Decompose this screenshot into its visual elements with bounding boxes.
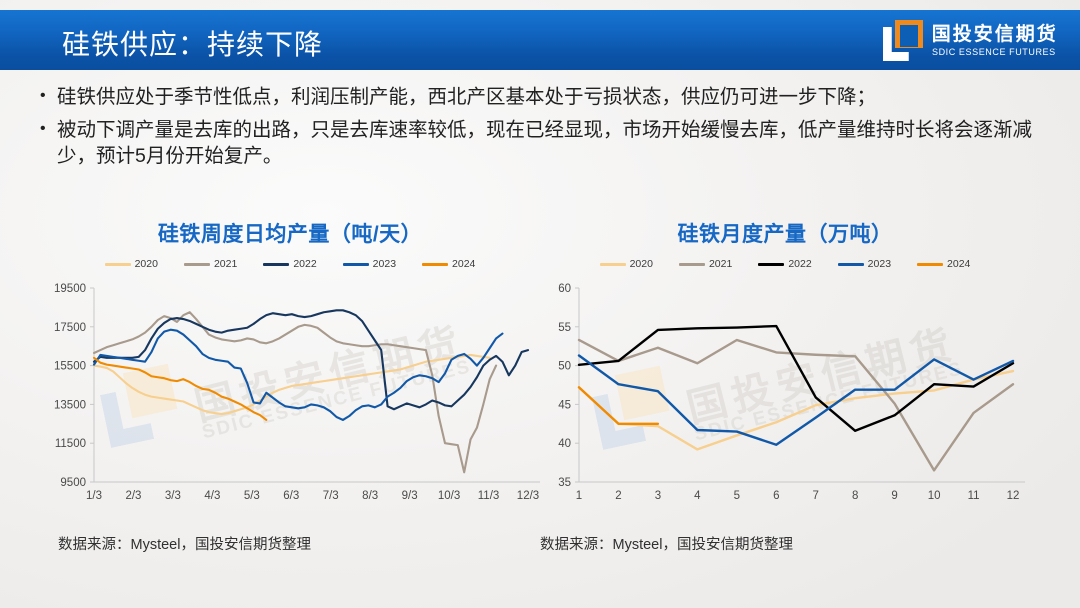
svg-text:19500: 19500: [54, 283, 86, 295]
legend-swatch: [838, 263, 864, 266]
svg-text:12: 12: [1007, 490, 1020, 502]
source-note: 数据来源：Mysteel，国投安信期货整理: [58, 533, 311, 554]
source-note: 数据来源：Mysteel，国投安信期货整理: [540, 533, 793, 554]
svg-text:2/3: 2/3: [125, 490, 141, 502]
legend-swatch: [679, 263, 705, 266]
svg-text:4: 4: [694, 490, 701, 502]
page-title: 硅铁供应：持续下降: [62, 23, 323, 63]
svg-text:4/3: 4/3: [204, 490, 220, 502]
legend-label: 2024: [452, 258, 475, 270]
svg-text:11500: 11500: [55, 438, 86, 450]
legend-item-2022: 2022: [263, 258, 316, 270]
legend-item-2022: 2022: [758, 258, 811, 270]
svg-text:10/3: 10/3: [438, 490, 460, 502]
bullet-item: • 硅铁供应处于季节性低点，利润压制产能，西北产区基本处于亏损状态，供应仍可进一…: [40, 84, 1050, 110]
svg-text:8/3: 8/3: [362, 490, 378, 502]
svg-text:10: 10: [928, 490, 941, 502]
bullet-marker: •: [40, 84, 57, 107]
bullet-text: 硅铁供应处于季节性低点，利润压制产能，西北产区基本处于亏损状态，供应仍可进一步下…: [57, 84, 1050, 110]
legend-label: 2020: [630, 258, 653, 270]
svg-text:2: 2: [615, 490, 621, 502]
svg-text:11/3: 11/3: [478, 490, 500, 502]
legend-label: 2024: [947, 258, 970, 270]
bullet-text: 被动下调产量是去库的出路，只是去库速率较低，现在已经显现，市场开始缓慢去库，低产…: [57, 117, 1050, 169]
svg-text:6/3: 6/3: [283, 490, 299, 502]
svg-text:9500: 9500: [60, 477, 86, 489]
legend-item-2020: 2020: [105, 258, 158, 270]
chart-legend: 2020 2021 2022 2023 2024: [40, 258, 540, 270]
legend-item-2024: 2024: [917, 258, 970, 270]
legend-item-2023: 2023: [343, 258, 396, 270]
svg-text:9: 9: [891, 490, 897, 502]
svg-text:17500: 17500: [54, 322, 86, 334]
svg-text:40: 40: [558, 438, 571, 450]
svg-text:55: 55: [558, 322, 571, 334]
legend-label: 2023: [868, 258, 891, 270]
svg-text:1/3: 1/3: [86, 490, 102, 502]
legend-label: 2020: [135, 258, 158, 270]
bullet-marker: •: [40, 117, 57, 140]
chart-title: 硅铁月度产量（万吨）: [535, 218, 1035, 248]
svg-text:45: 45: [558, 399, 571, 411]
company-logo: 国投安信期货 SDIC ESSENCE FUTURES: [882, 19, 1062, 63]
svg-text:3: 3: [655, 490, 661, 502]
svg-text:3/3: 3/3: [165, 490, 181, 502]
legend-label: 2022: [788, 258, 811, 270]
svg-text:35: 35: [558, 477, 571, 489]
legend-swatch: [422, 263, 448, 266]
legend-swatch: [184, 263, 210, 266]
legend-label: 2022: [293, 258, 316, 270]
legend-item-2020: 2020: [600, 258, 653, 270]
legend-swatch: [758, 263, 784, 266]
chart-legend: 2020 2021 2022 2023 2024: [535, 258, 1035, 270]
svg-text:5: 5: [734, 490, 740, 502]
svg-text:8: 8: [852, 490, 858, 502]
legend-label: 2021: [709, 258, 732, 270]
legend-swatch: [600, 263, 626, 266]
bullet-list: • 硅铁供应处于季节性低点，利润压制产能，西北产区基本处于亏损状态，供应仍可进一…: [40, 84, 1050, 176]
legend-item-2021: 2021: [679, 258, 732, 270]
svg-text:50: 50: [558, 361, 571, 373]
chart-weekly-output: 硅铁周度日均产量（吨/天） 2020 2021 2022 2023 2024: [40, 218, 540, 548]
legend-swatch: [343, 263, 369, 266]
svg-text:13500: 13500: [54, 399, 86, 411]
logo-name-cn: 国投安信期货: [932, 25, 1062, 44]
svg-text:11: 11: [968, 490, 980, 502]
logo-name-en: SDIC ESSENCE FUTURES: [932, 48, 1056, 58]
chart-monthly-output: 硅铁月度产量（万吨） 2020 2021 2022 2023 2024: [535, 218, 1035, 548]
bullet-item: • 被动下调产量是去库的出路，只是去库速率较低，现在已经显现，市场开始缓慢去库，…: [40, 117, 1050, 169]
plot-area: 国投安信期货 SDIC ESSENCE FUTURES 950011500135…: [40, 278, 540, 508]
legend-swatch: [105, 263, 131, 266]
svg-text:15500: 15500: [54, 361, 86, 373]
legend-swatch: [917, 263, 943, 266]
chart-title: 硅铁周度日均产量（吨/天）: [40, 218, 540, 248]
svg-text:7/3: 7/3: [323, 490, 339, 502]
legend-label: 2021: [214, 258, 237, 270]
svg-text:6: 6: [773, 490, 779, 502]
svg-text:9/3: 9/3: [402, 490, 418, 502]
plot-area: 国投安信期货 SDIC ESSENCE FUTURES 354045505560…: [535, 278, 1035, 508]
legend-item-2024: 2024: [422, 258, 475, 270]
svg-text:60: 60: [558, 283, 571, 295]
slide-header: 硅铁供应：持续下降 国投安信期货 SDIC ESSENCE FUTURES: [0, 10, 1080, 70]
legend-label: 2023: [373, 258, 396, 270]
slide: 硅铁供应：持续下降 国投安信期货 SDIC ESSENCE FUTURES • …: [0, 0, 1080, 608]
legend-swatch: [263, 263, 289, 266]
svg-text:5/3: 5/3: [244, 490, 260, 502]
line-chart-svg: 354045505560123456789101112: [535, 278, 1035, 508]
svg-text:7: 7: [813, 490, 819, 502]
logo-mark-icon: [882, 20, 924, 62]
legend-item-2021: 2021: [184, 258, 237, 270]
svg-text:1: 1: [576, 490, 582, 502]
legend-item-2023: 2023: [838, 258, 891, 270]
line-chart-svg: 950011500135001550017500195001/32/33/34/…: [40, 278, 540, 508]
